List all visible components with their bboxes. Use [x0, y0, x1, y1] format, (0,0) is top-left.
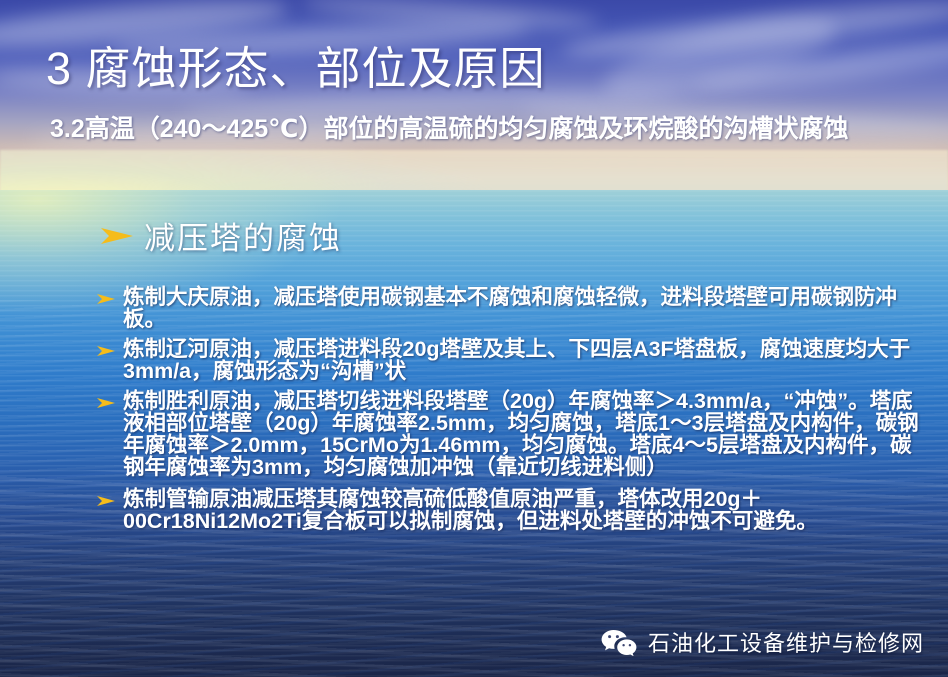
wechat-icon — [600, 628, 638, 656]
section-headline: 减压塔的腐蚀 — [100, 213, 342, 258]
list-item: 炼制胜利原油，减压塔切线进料段塔壁（20g）年腐蚀率＞4.3mm/a，“冲蚀”。… — [96, 390, 926, 478]
list-item: 炼制大庆原油，减压塔使用碳钢基本不腐蚀和腐蚀轻微，进料段塔壁可用碳钢防冲板。 — [96, 286, 926, 330]
section-headline-label: 减压塔的腐蚀 — [144, 213, 342, 258]
list-item: 炼制辽河原油，减压塔进料段20g塔壁及其上、下四层A3F塔盘板，腐蚀速度均大于3… — [96, 338, 926, 382]
arrow-bullet-icon — [96, 396, 116, 410]
bullet-text: 炼制胜利原油，减压塔切线进料段塔壁（20g）年腐蚀率＞4.3mm/a，“冲蚀”。… — [123, 390, 926, 478]
slide-title: 3 腐蚀形态、部位及原因 — [46, 46, 546, 91]
arrow-bullet-icon — [96, 344, 116, 358]
brand-name: 石油化工设备维护与检修网 — [648, 626, 924, 658]
bullet-text: 炼制大庆原油，减压塔使用碳钢基本不腐蚀和腐蚀轻微，进料段塔壁可用碳钢防冲板。 — [123, 286, 926, 330]
arrow-bullet-icon — [96, 494, 116, 508]
arrow-bullet-icon — [96, 292, 116, 306]
bullet-text: 炼制辽河原油，减压塔进料段20g塔壁及其上、下四层A3F塔盘板，腐蚀速度均大于3… — [123, 338, 926, 382]
slide-subtitle: 3.2高温（240～425℃）部位的高温硫的均匀腐蚀及环烷酸的沟槽状腐蚀 — [50, 116, 848, 144]
list-item: 炼制管输原油减压塔其腐蚀较高硫低酸值原油严重，塔体改用20g＋00Cr18Ni1… — [96, 488, 926, 532]
footer-watermark: 石油化工设备维护与检修网 — [600, 626, 924, 658]
arrow-bullet-icon — [100, 225, 134, 247]
bullet-list: 炼制大庆原油，减压塔使用碳钢基本不腐蚀和腐蚀轻微，进料段塔壁可用碳钢防冲板。 炼… — [96, 286, 926, 532]
bullet-text: 炼制管输原油减压塔其腐蚀较高硫低酸值原油严重，塔体改用20g＋00Cr18Ni1… — [123, 488, 926, 532]
slide-canvas: 3 腐蚀形态、部位及原因 3.2高温（240～425℃）部位的高温硫的均匀腐蚀及… — [0, 0, 948, 677]
slide-content: 3 腐蚀形态、部位及原因 3.2高温（240～425℃）部位的高温硫的均匀腐蚀及… — [0, 0, 948, 677]
